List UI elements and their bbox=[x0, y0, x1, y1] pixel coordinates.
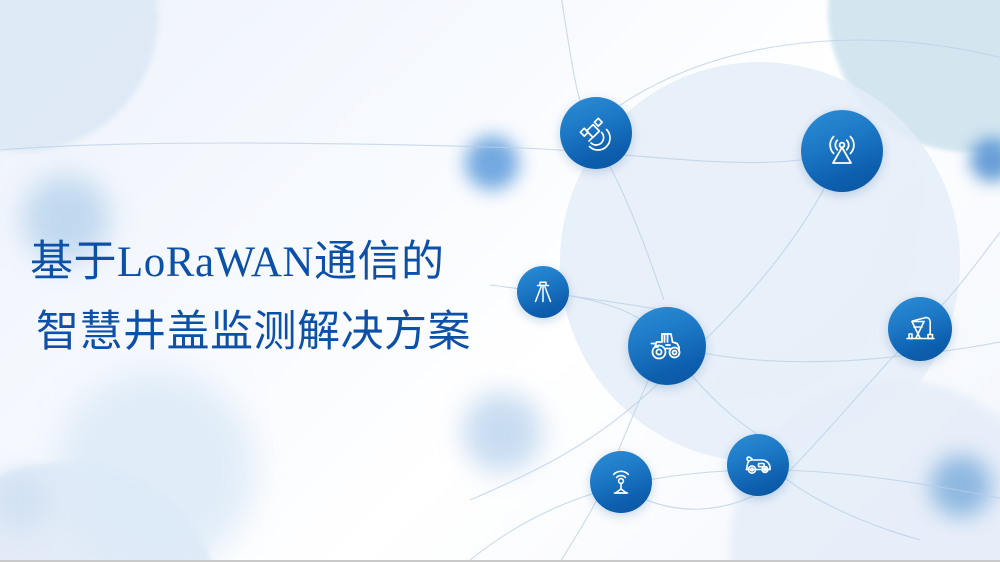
node-radio-tower[interactable] bbox=[801, 110, 883, 192]
node-robot-mower[interactable] bbox=[727, 434, 789, 496]
accent-dot-d bbox=[930, 455, 992, 517]
node-tractor[interactable] bbox=[628, 307, 706, 385]
robot-mower-icon bbox=[740, 447, 776, 483]
radio-tower-icon bbox=[819, 128, 865, 174]
background-blob-middle-left bbox=[55, 370, 255, 562]
oil-pumpjack-icon bbox=[901, 310, 939, 348]
node-wireless-sensor[interactable] bbox=[590, 451, 652, 513]
node-satellite-dish[interactable] bbox=[560, 97, 632, 169]
slide-canvas: 基于LoRaWAN通信的 智慧井盖监测解决方案 bbox=[0, 0, 1000, 562]
background-blob-bottom-left bbox=[0, 462, 224, 562]
wireless-sensor-icon bbox=[604, 465, 638, 499]
background-blob-top-left bbox=[0, 0, 158, 152]
title-block: 基于LoRaWAN通信的 智慧井盖监测解决方案 bbox=[30, 228, 550, 367]
accent-dot-e bbox=[970, 138, 1000, 182]
accent-dot-c bbox=[462, 392, 542, 472]
title-line-1: 基于LoRaWAN通信的 bbox=[30, 228, 550, 298]
satellite-dish-icon bbox=[576, 113, 616, 153]
accent-dot-f bbox=[0, 470, 50, 530]
accent-dot-a bbox=[465, 136, 519, 190]
tractor-icon bbox=[644, 323, 690, 369]
node-oil-pumpjack[interactable] bbox=[888, 297, 952, 361]
title-line-2: 智慧井盖监测解决方案 bbox=[30, 298, 550, 368]
